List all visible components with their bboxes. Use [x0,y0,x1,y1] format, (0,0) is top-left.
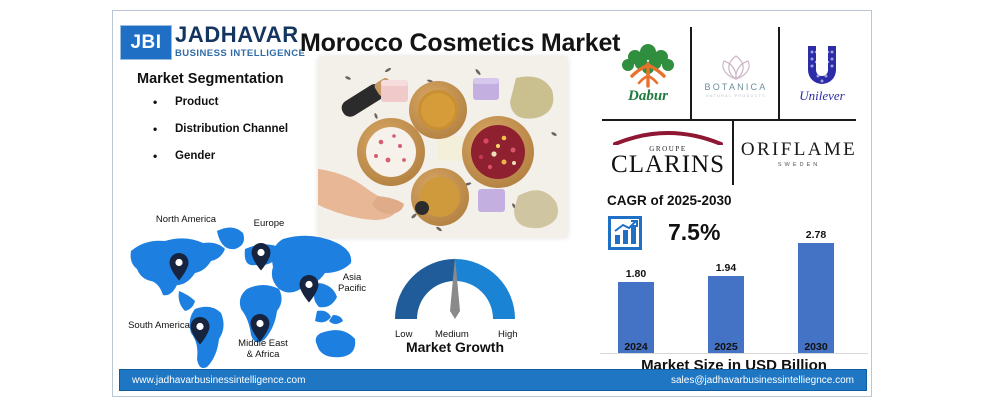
botanica-lotus-icon [716,52,756,82]
footer-website[interactable]: www.jadhavarbusinessintelligence.com [132,375,305,386]
divider [690,27,692,119]
divider [602,119,856,121]
map-label-north-america: North America [141,215,231,226]
map-label-south-america: South America [114,321,204,332]
brand-block: JADHAVAR BUSINESS INTELLIGENCE [175,24,305,59]
divider [778,27,780,119]
bar-category-2025: 2025 [696,341,756,353]
brand-label: Dabur [628,88,668,105]
segmentation-heading: Market Segmentation [137,71,284,87]
unilever-u-icon [799,42,845,90]
brand-label: ORIFLAME [741,140,857,159]
brand-logo-clarins: GROUPE CLARINS [608,125,728,181]
market-size-bar-chart: 1.80 1.94 2.78 [600,243,868,353]
cagr-value: 7.5% [668,219,720,246]
map-label-europe: Europe [239,219,299,230]
brand-label: Unilever [799,88,844,104]
divider [732,119,734,185]
brand-label: BOTANICA [705,82,768,92]
map-label-asia-pacific: Asia Pacific [329,273,375,295]
brand-logo-unilever: Unilever [784,31,860,115]
bar-value-2024: 1.80 [606,268,666,280]
bar-category-2030: 2030 [786,341,846,353]
bar-category-2024: 2024 [606,341,666,353]
brand-logo-oriflame: ORIFLAME SWEDEN [738,129,860,179]
infographic-card: JBI JADHAVAR BUSINESS INTELLIGENCE Moroc… [112,10,872,397]
cagr-label: CAGR of 2025-2030 [607,193,732,208]
market-growth-gauge [385,233,525,328]
bar-value-2030: 2.78 [786,229,846,241]
page-title: Morocco Cosmetics Market [300,29,640,58]
brand-tagline: NATURAL PRODUCTS [706,94,766,98]
jbi-logo-text: JBI [130,32,161,54]
clarins-arc-icon [612,129,724,145]
bar-2030 [798,243,834,353]
gauge-title: Market Growth [385,339,525,355]
brand-logo-dabur: Dabur [608,31,688,115]
brand-tagline: SWEDEN [778,162,821,168]
brand-logo-botanica: BOTANICA NATURAL PRODUCTS [696,35,776,115]
footer-bar: www.jadhavarbusinessintelligence.com sal… [119,369,867,391]
bar-value-2025: 1.94 [696,262,756,274]
jbi-logo: JBI [120,25,172,60]
chart-baseline [600,353,868,354]
brand-logos-panel: Dabur BOTANICA NATURAL PRODUCTS [602,19,867,187]
brand-label: CLARINS [611,153,725,177]
brand-subtitle: BUSINESS INTELLIGENCE [175,48,305,59]
infographic-page: JBI JADHAVAR BUSINESS INTELLIGENCE Moroc… [0,0,982,407]
map-label-middle-east-africa: Middle East & Africa [223,339,303,361]
footer-email[interactable]: sales@jadhavarbusinessintelliegnce.com [671,375,854,386]
dabur-tree-icon [620,42,676,92]
brand-name: JADHAVAR [175,24,305,46]
